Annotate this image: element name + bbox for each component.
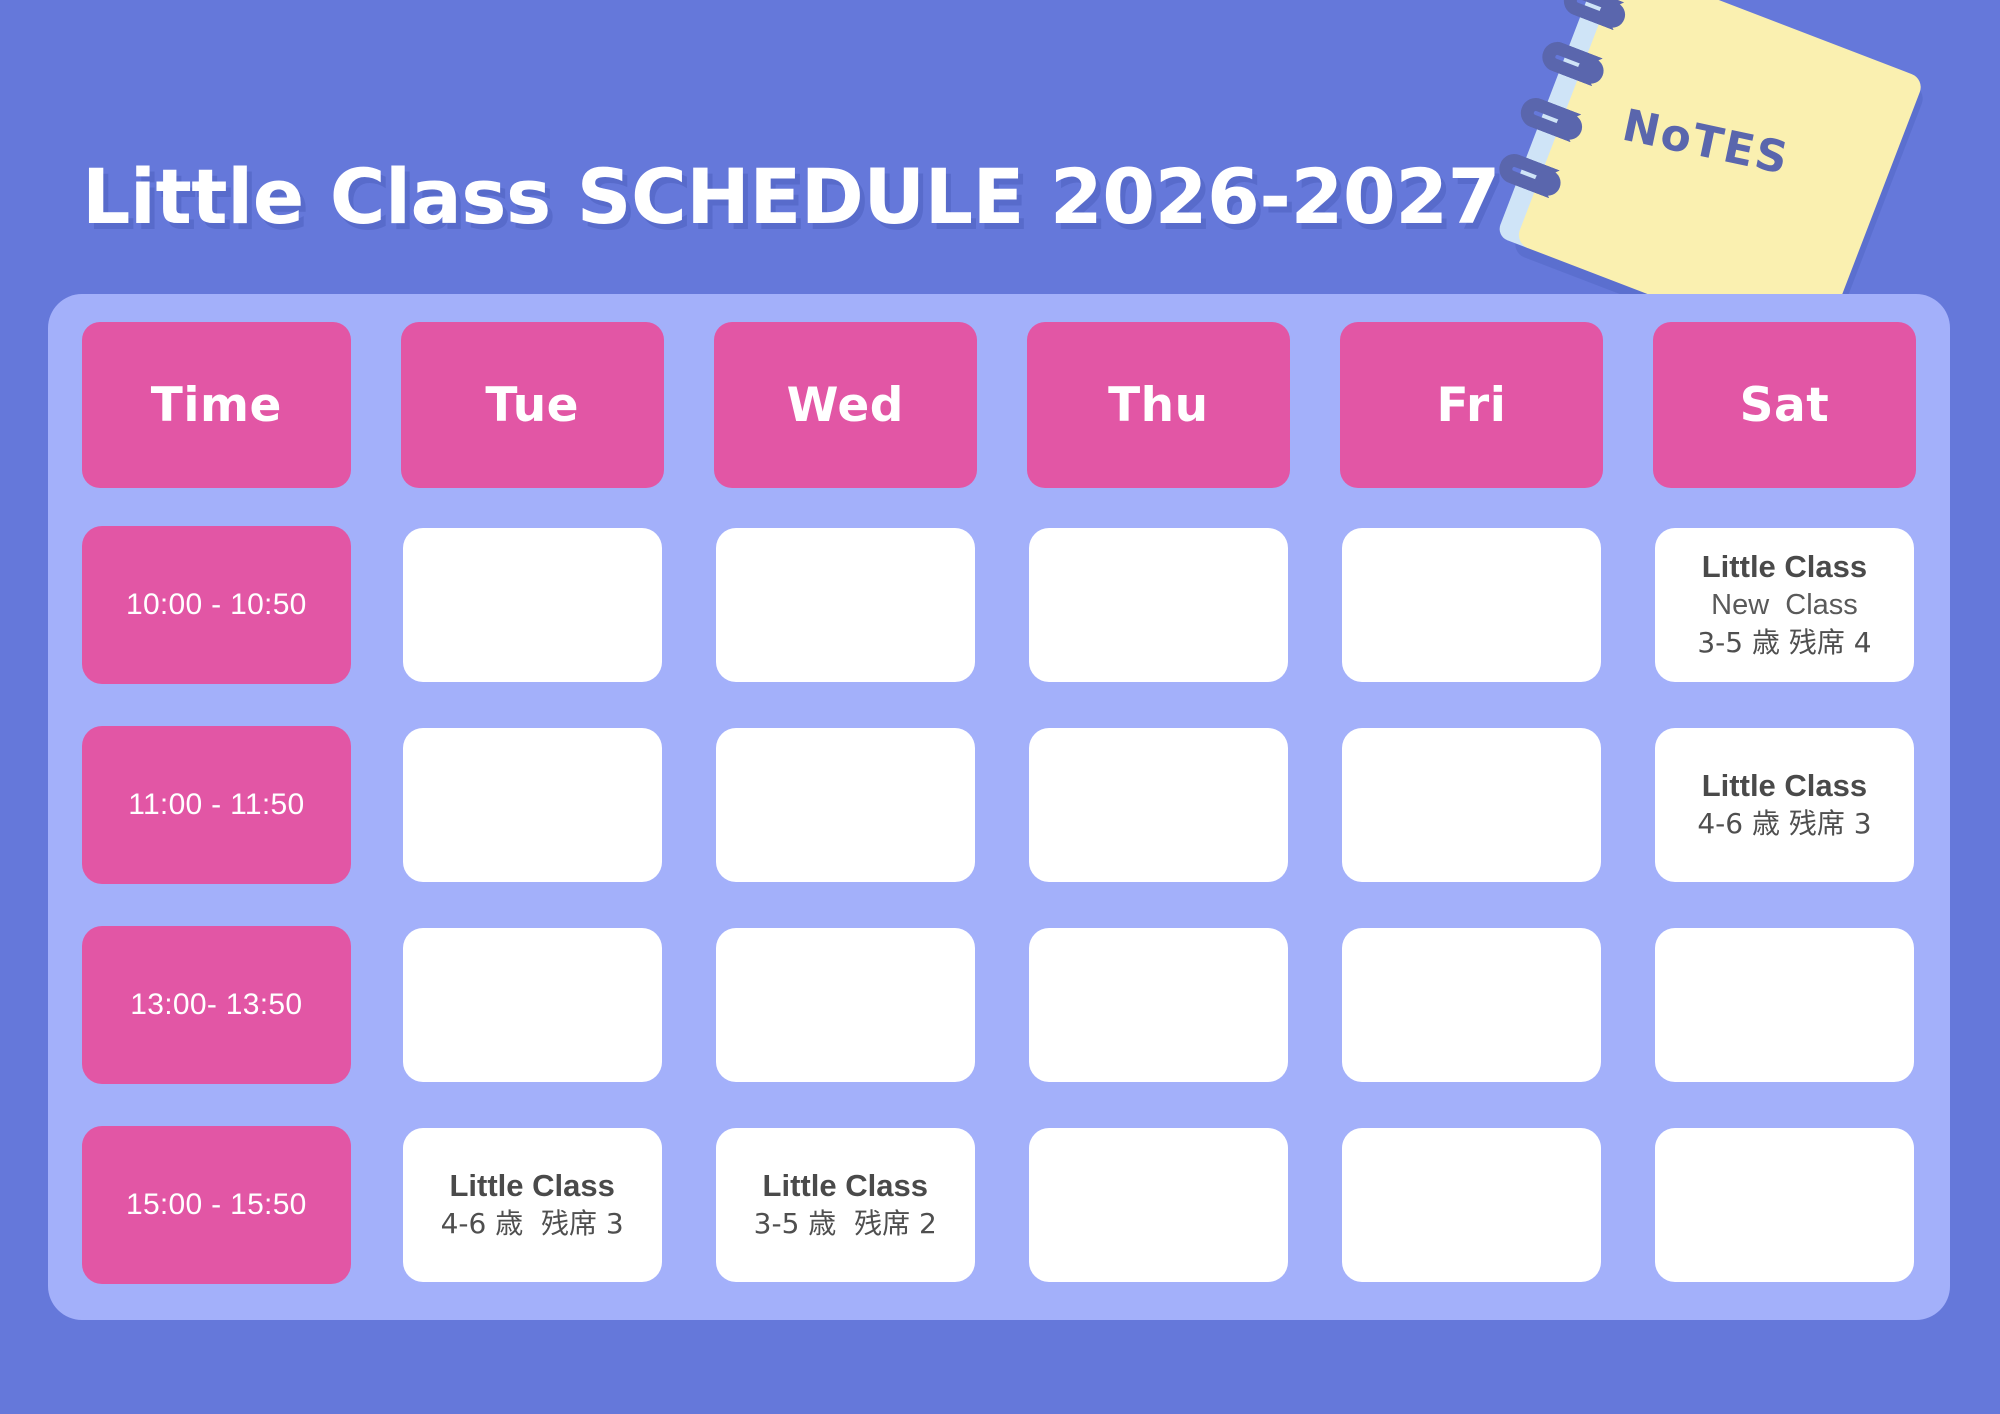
column-header-thu: Thu <box>1027 322 1290 488</box>
class-subtitle: New Class <box>1711 587 1858 625</box>
time-slot: 13:00- 13:50 <box>82 926 351 1084</box>
class-title: Little Class <box>763 1167 928 1206</box>
class-detail: 4-6 歳 残席 3 <box>1697 805 1871 843</box>
column-header-sat: Sat <box>1653 322 1916 488</box>
column-header-tue: Tue <box>401 322 664 488</box>
schedule-cell[interactable] <box>1342 928 1601 1082</box>
schedule-cell[interactable] <box>1342 528 1601 682</box>
class-title: Little Class <box>1702 548 1867 587</box>
column-header-time: Time <box>82 322 351 488</box>
schedule-cell[interactable] <box>1029 1128 1288 1282</box>
schedule-cell[interactable] <box>1029 528 1288 682</box>
schedule-cell[interactable]: Little Class New Class 3-5 歳 残席 4 <box>1655 528 1914 682</box>
schedule-cell[interactable] <box>1029 728 1288 882</box>
schedule-cell[interactable] <box>403 528 662 682</box>
schedule-cell[interactable] <box>716 528 975 682</box>
schedule-cell[interactable] <box>403 928 662 1082</box>
schedule-cell[interactable]: Little Class 3-5 歳 残席 2 <box>716 1128 975 1282</box>
class-title: Little Class <box>449 1167 614 1206</box>
schedule-cell[interactable]: Little Class 4-6 歳 残席 3 <box>1655 728 1914 882</box>
time-slot: 10:00 - 10:50 <box>82 526 351 684</box>
schedule-cell[interactable] <box>403 728 662 882</box>
page-title: Little Class SCHEDULE 2026-2027 <box>82 159 1500 235</box>
time-slot: 15:00 - 15:50 <box>82 1126 351 1284</box>
schedule-cell[interactable] <box>1655 928 1914 1082</box>
schedule-cell[interactable] <box>716 928 975 1082</box>
schedule-cell[interactable] <box>1342 728 1601 882</box>
schedule-cell[interactable] <box>1342 1128 1601 1282</box>
schedule-grid: Time Tue Wed Thu Fri Sat 10:00 - 10:50 L… <box>74 316 1924 1294</box>
column-header-wed: Wed <box>714 322 977 488</box>
class-detail: 3-5 歳 残席 4 <box>1697 624 1871 662</box>
class-title: Little Class <box>1702 767 1867 806</box>
schedule-cell[interactable]: Little Class 4-6 歳 残席 3 <box>403 1128 662 1282</box>
class-detail: 4-6 歳 残席 3 <box>441 1205 624 1243</box>
column-header-fri: Fri <box>1340 322 1603 488</box>
time-slot: 11:00 - 11:50 <box>82 726 351 884</box>
schedule-cell[interactable] <box>1029 928 1288 1082</box>
schedule-cell[interactable] <box>716 728 975 882</box>
schedule-cell[interactable] <box>1655 1128 1914 1282</box>
schedule-panel: Time Tue Wed Thu Fri Sat 10:00 - 10:50 L… <box>48 294 1950 1320</box>
class-detail: 3-5 歳 残席 2 <box>754 1205 937 1243</box>
